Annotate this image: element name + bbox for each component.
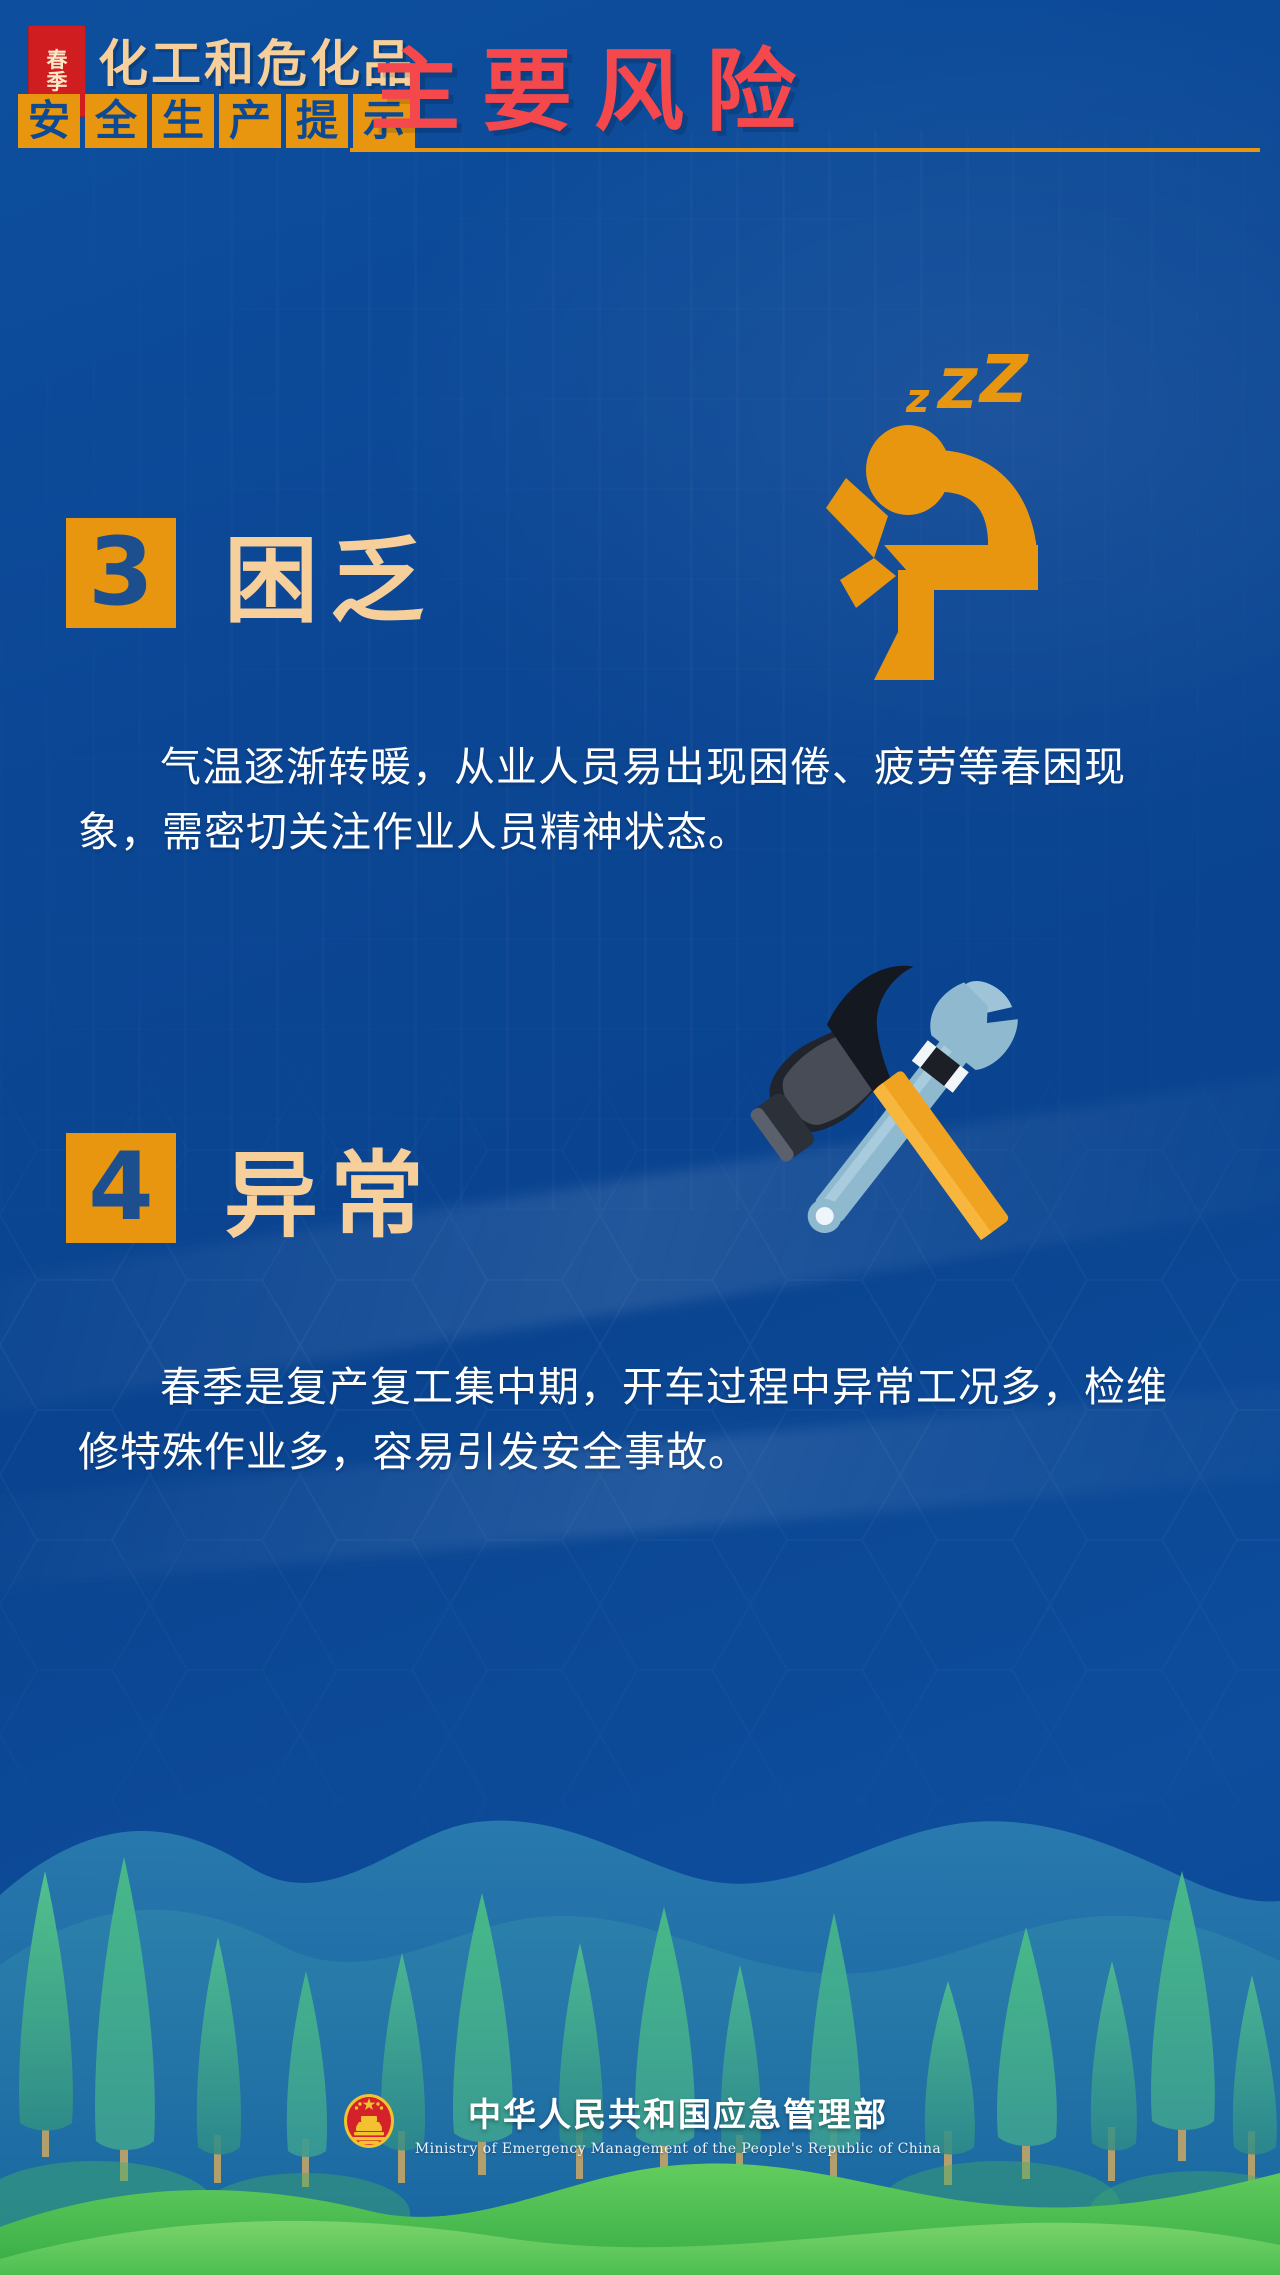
risk-number-badge-4: 4 <box>66 1133 176 1243</box>
seal-char-1: 春 <box>47 49 68 71</box>
header-tile-2: 全 <box>85 94 147 148</box>
svg-text:Z: Z <box>978 341 1029 418</box>
footer-organization-logo: 中华人民共和国应急管理部 Ministry of Emergency Manag… <box>0 2088 1280 2157</box>
header-tile-3: 生 <box>152 94 214 148</box>
risk-title-3: 困乏 <box>224 505 436 641</box>
china-national-emblem-icon <box>339 2091 399 2155</box>
risk-body-3: 气温逐渐转暖，从业人员易出现困倦、疲劳等春困现象，需密切关注作业人员精神状态。 <box>78 735 1208 865</box>
header-tile-5: 提 <box>286 94 348 148</box>
header-divider-rule <box>350 148 1260 152</box>
footer-org-cn: 中华人民共和国应急管理部 <box>468 2088 888 2136</box>
hammer-and-wrench-icon <box>740 955 1070 1265</box>
header-tile-4: 产 <box>219 94 281 148</box>
risk-section-4-heading: 4 异常 <box>66 1120 436 1256</box>
page-title: 主要风险 <box>370 18 818 148</box>
footer-org-en: Ministry of Emergency Management of the … <box>415 2141 941 2157</box>
poster-header: 春 季 化工和危化品 安 全 生 产 提 示 主要风险 <box>0 0 1280 175</box>
header-tile-1: 安 <box>18 94 80 148</box>
svg-text:z: z <box>905 376 930 422</box>
poster-root: 春 季 化工和危化品 安 全 生 产 提 示 主要风险 3 困乏 气温逐渐转暖，… <box>0 0 1280 2275</box>
industrial-plant-texture <box>0 130 1280 1210</box>
risk-number-badge-3: 3 <box>66 518 176 628</box>
footer-text-block: 中华人民共和国应急管理部 Ministry of Emergency Manag… <box>415 2088 941 2157</box>
seal-char-2: 季 <box>47 71 68 93</box>
header-subtitle-line1: 化工和危化品 <box>98 24 416 96</box>
svg-text:Z: Z <box>936 358 978 421</box>
risk-section-3-heading: 3 困乏 <box>66 505 436 641</box>
footer-landscape-illustration <box>0 1775 1280 2275</box>
header-subtitle-line2: 安 全 生 产 提 示 <box>18 94 415 148</box>
risk-body-4: 春季是复产复工集中期，开车过程中异常工况多，检维修特殊作业多，容易引发安全事故。 <box>78 1355 1208 1485</box>
risk-title-4: 异常 <box>224 1120 436 1256</box>
sleeping-person-zzz-icon: z Z Z <box>788 340 1088 690</box>
